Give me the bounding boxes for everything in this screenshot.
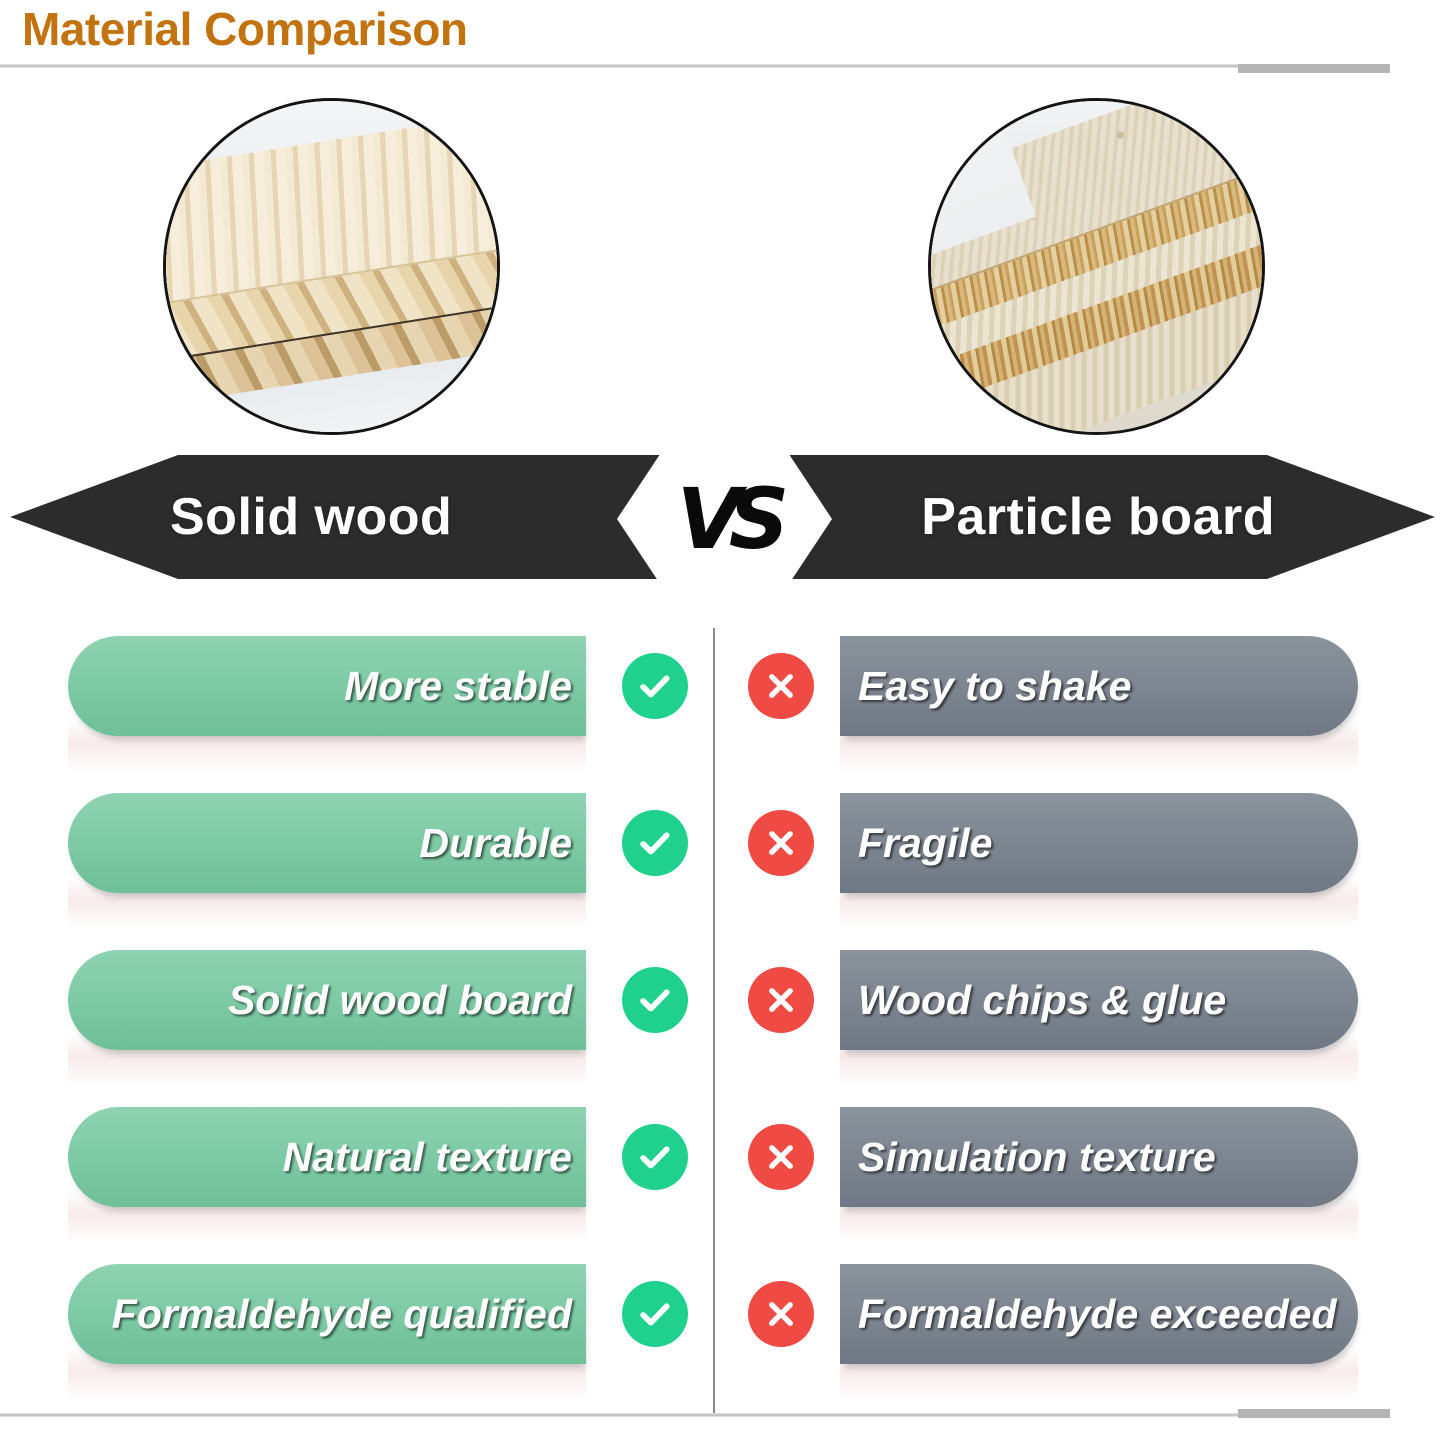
cross-circle-icon bbox=[748, 1281, 814, 1347]
check-circle-icon bbox=[622, 1124, 688, 1190]
table-row: DurableFragile bbox=[0, 793, 1445, 893]
particle-board-feature-label: Formaldehyde exceeded bbox=[858, 1291, 1337, 1338]
particle-board-feature-label: Easy to shake bbox=[858, 663, 1132, 710]
vs-letter-s: S bbox=[729, 470, 777, 568]
particle-board-feature-label: Fragile bbox=[858, 820, 992, 867]
particle-board-photo bbox=[928, 98, 1265, 435]
table-row: Solid wood boardWood chips & glue bbox=[0, 950, 1445, 1050]
title-divider-top bbox=[0, 64, 1390, 68]
particle-board-feature-pill: Easy to shake bbox=[840, 636, 1358, 736]
footer-divider bbox=[0, 1413, 1390, 1417]
solid-wood-feature-label: Solid wood board bbox=[228, 977, 572, 1024]
cross-circle-icon bbox=[748, 967, 814, 1033]
banner-solid-wood: Solid wood bbox=[10, 455, 700, 579]
solid-wood-feature-pill: Formaldehyde qualified bbox=[68, 1264, 586, 1364]
table-row: Formaldehyde qualifiedFormaldehyde excee… bbox=[0, 1264, 1445, 1364]
title-divider-top-tab bbox=[1238, 64, 1390, 73]
solid-wood-feature-pill: More stable bbox=[68, 636, 586, 736]
solid-wood-feature-pill: Durable bbox=[68, 793, 586, 893]
solid-wood-feature-pill: Natural texture bbox=[68, 1107, 586, 1207]
banner-solid-wood-label: Solid wood bbox=[170, 487, 452, 547]
particle-board-feature-pill: Simulation texture bbox=[840, 1107, 1358, 1207]
vs-badge-label: VS bbox=[673, 477, 777, 561]
cross-circle-icon bbox=[748, 1124, 814, 1190]
table-row: Natural textureSimulation texture bbox=[0, 1107, 1445, 1207]
solid-wood-photo bbox=[163, 98, 500, 435]
check-circle-icon bbox=[622, 1281, 688, 1347]
check-circle-icon bbox=[622, 810, 688, 876]
solid-wood-feature-label: More stable bbox=[344, 663, 572, 710]
check-circle-icon bbox=[622, 967, 688, 1033]
particle-board-feature-pill: Fragile bbox=[840, 793, 1358, 893]
vs-letter-v: V bbox=[677, 470, 729, 568]
particle-board-feature-label: Simulation texture bbox=[858, 1134, 1216, 1181]
particle-board-feature-pill: Formaldehyde exceeded bbox=[840, 1264, 1358, 1364]
page-title: Material Comparison bbox=[22, 2, 468, 56]
footer-divider-tab bbox=[1238, 1409, 1390, 1418]
solid-wood-feature-pill: Solid wood board bbox=[68, 950, 586, 1050]
banner-particle-board-label: Particle board bbox=[921, 487, 1275, 547]
check-circle-icon bbox=[622, 653, 688, 719]
solid-wood-feature-label: Formaldehyde qualified bbox=[112, 1291, 572, 1338]
solid-wood-photo-image bbox=[166, 101, 497, 432]
particle-board-feature-pill: Wood chips & glue bbox=[840, 950, 1358, 1050]
banner-particle-board: Particle board bbox=[745, 455, 1435, 579]
cross-circle-icon bbox=[748, 653, 814, 719]
cross-circle-icon bbox=[748, 810, 814, 876]
particle-board-photo-image bbox=[931, 101, 1262, 432]
infographic-root: Material Comparison Solid wood Particle … bbox=[0, 0, 1445, 1429]
table-row: More stableEasy to shake bbox=[0, 636, 1445, 736]
solid-wood-feature-label: Natural texture bbox=[283, 1134, 572, 1181]
solid-wood-feature-label: Durable bbox=[419, 820, 572, 867]
particle-board-feature-label: Wood chips & glue bbox=[858, 977, 1226, 1024]
